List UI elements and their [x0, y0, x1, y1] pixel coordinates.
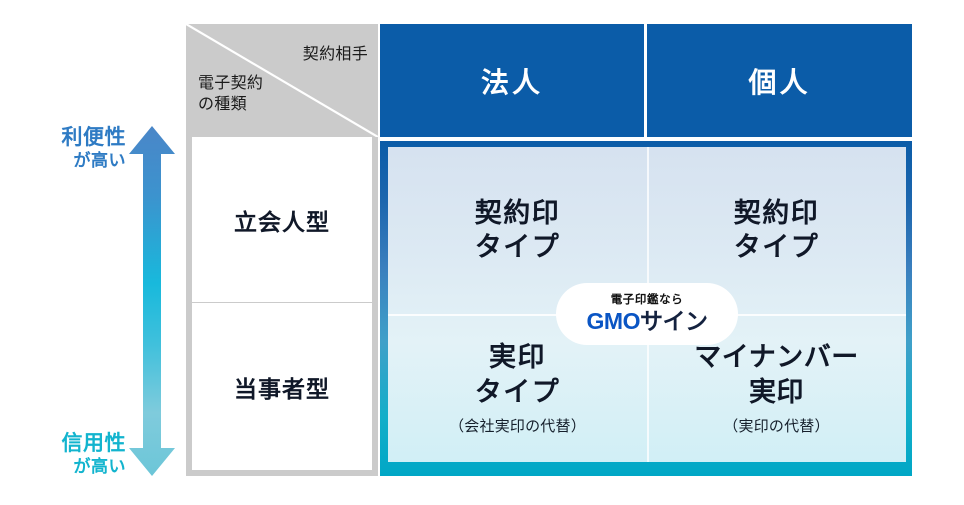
matrix-body-panel: 契約印 タイプ 契約印 タイプ 実印 タイプ （会社実印の代替）	[380, 141, 912, 476]
row-header-witness-type: 立会人型	[192, 137, 372, 302]
axis-label-top: 利便性 が高い	[14, 126, 126, 171]
gmo-sign-logo-brand: GMOサイン	[587, 310, 708, 333]
gmo-sign-logo-brand-secondary: サイン	[640, 308, 708, 334]
matrix-cell-party-corporate-note: （会社実印の代替）	[449, 415, 586, 436]
corner-label-contract-type: 電子契約 の種類	[198, 74, 263, 116]
matrix-cell-party-corporate-line2: タイプ	[475, 377, 561, 407]
corner-label-counterparty: 契約相手	[303, 40, 368, 64]
contract-type-matrix: 契約相手 電子契約 の種類 法人 個人 立会人型 当事者型	[186, 24, 912, 476]
matrix-cell-party-corporate-line1: 実印	[489, 342, 546, 372]
axis-label-top-main: 利便性	[14, 126, 126, 151]
diagram-canvas: 利便性 が高い 信用性 が高い	[0, 0, 964, 505]
matrix-cell-party-individual-line1: マイナンバー	[694, 342, 858, 372]
matrix-cell-witness-corporate-line2: タイプ	[475, 232, 561, 262]
axis-label-bottom-main: 信用性	[14, 432, 126, 457]
gmo-sign-logo-tagline: 電子印鑑なら	[611, 295, 684, 307]
row-header-witness-type-label: 立会人型	[234, 203, 330, 237]
matrix-cell-witness-corporate-title: 契約印 タイプ	[475, 196, 561, 265]
matrix-cell-witness-individual-line2: タイプ	[734, 232, 820, 262]
matrix-cell-party-individual-note: （実印の代替）	[723, 415, 829, 436]
matrix-cell-witness-individual-title: 契約印 タイプ	[734, 196, 820, 265]
gmo-sign-logo: 電子印鑑なら GMOサイン	[556, 283, 738, 345]
row-header-party-type-label: 当事者型	[234, 370, 330, 404]
axis-label-top-sub: が高い	[14, 151, 126, 171]
matrix-cell-party-corporate-title: 実印 タイプ	[475, 340, 561, 409]
corner-label-contract-type-line2: の種類	[198, 96, 247, 113]
matrix-cell-witness-corporate-line1: 契約印	[475, 198, 561, 228]
double-arrow-icon	[128, 126, 176, 476]
row-header-party-type: 当事者型	[192, 303, 372, 470]
matrix-body-inner: 契約印 タイプ 契約印 タイプ 実印 タイプ （会社実印の代替）	[388, 147, 906, 462]
gmo-sign-logo-brand-primary: GMO	[587, 308, 640, 334]
column-header-individual-label: 個人	[748, 61, 810, 101]
axis-label-bottom: 信用性 が高い	[14, 432, 126, 477]
matrix-corner-header: 契約相手 電子契約 の種類	[186, 24, 378, 137]
matrix-cell-party-individual-title: マイナンバー 実印	[694, 340, 858, 409]
corner-label-contract-type-line1: 電子契約	[198, 75, 263, 92]
column-header-corporate: 法人	[380, 24, 644, 137]
matrix-cell-witness-individual-line1: 契約印	[734, 198, 820, 228]
matrix-cell-party-individual-line2: 実印	[749, 377, 804, 407]
axis-label-bottom-sub: が高い	[14, 457, 126, 477]
column-header-individual: 個人	[647, 24, 912, 137]
column-header-corporate-label: 法人	[481, 61, 543, 101]
